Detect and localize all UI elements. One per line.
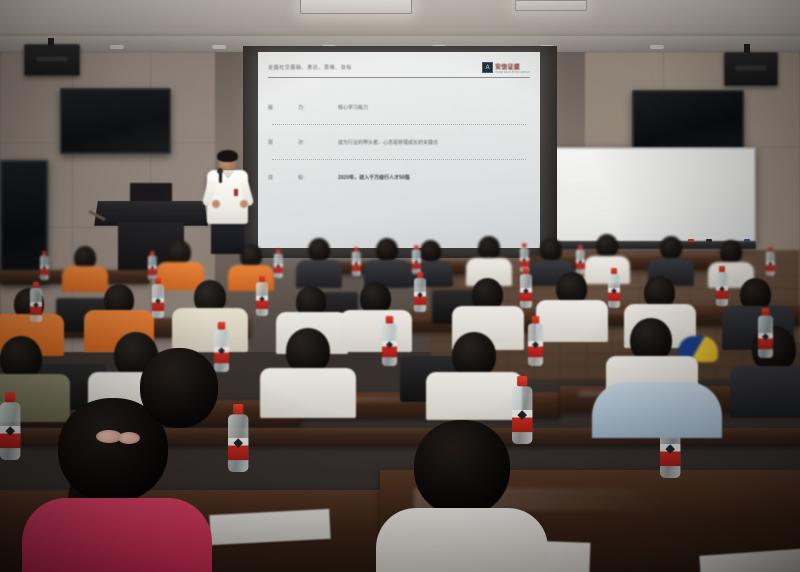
slide-row-key-1: 目	[268, 174, 298, 181]
company-logo: A 安信证盛 ANXIN EDUCATION GROUP	[482, 62, 530, 74]
audience-head	[720, 240, 742, 264]
speaker-mount	[48, 38, 54, 46]
audience-torso	[62, 266, 108, 292]
slide-header-rule	[268, 77, 530, 78]
audience-torso-foreground	[376, 508, 548, 572]
water-bottle	[412, 245, 421, 274]
audience-head	[596, 234, 618, 258]
ceiling-light-secondary	[515, 0, 587, 11]
presenter-hand-right	[240, 200, 248, 208]
audience-head	[308, 238, 330, 262]
water-bottle	[352, 247, 361, 276]
audience-head-foreground	[414, 420, 510, 516]
audience-torso	[426, 372, 522, 420]
microphone-head-icon	[217, 168, 223, 174]
wall-speaker-icon	[24, 44, 80, 76]
presentation-slide: 全面社交基础、表达、思维、目标 A 安信证盛 ANXIN EDUCATION G…	[258, 52, 540, 248]
water-bottle	[512, 376, 532, 444]
ceiling-light	[300, 0, 412, 14]
water-bottle	[576, 245, 585, 274]
marker-blue-icon	[744, 239, 750, 242]
audience-head	[660, 236, 682, 260]
right-wall-display-icon	[632, 90, 744, 152]
audience-torso	[536, 300, 608, 342]
water-bottle	[214, 322, 229, 372]
audience-torso	[340, 310, 412, 352]
audience-head	[420, 240, 441, 263]
slide-row-key-2: 力:	[298, 104, 338, 111]
water-bottle	[766, 247, 775, 276]
water-bottle	[152, 278, 164, 318]
logo-subtext: ANXIN EDUCATION GROUP	[495, 71, 530, 74]
water-bottle	[0, 392, 20, 460]
presenter-badge	[234, 189, 238, 196]
water-bottle	[716, 266, 728, 306]
slide-header: 全面社交基础、表达、思维、目标 A 安信证盛 ANXIN EDUCATION G…	[268, 58, 530, 77]
presenter-legs	[211, 222, 244, 254]
water-bottle	[608, 268, 620, 308]
water-bottle	[758, 308, 773, 358]
water-bottle	[256, 276, 268, 316]
notebook-page	[209, 509, 330, 545]
ceiling-fixture-dot	[212, 45, 226, 49]
slide-row-key-2: 标:	[298, 174, 338, 181]
audience-head	[540, 238, 562, 262]
wall-speaker-icon	[724, 52, 778, 86]
logo-mark-icon: A	[482, 62, 493, 73]
presenter-hand-left	[212, 200, 220, 208]
audience-torso-foreground	[22, 498, 212, 572]
water-bottle	[274, 249, 283, 278]
slide-row: 层 次: 成为行业的带头者，心态是管理成长的关键点	[268, 125, 530, 159]
water-bottle	[528, 316, 543, 366]
ceiling-fixture-dot	[650, 45, 664, 49]
water-bottle	[40, 251, 49, 280]
audience-head	[376, 238, 398, 262]
slide-row: 能 力: 核心学习能力	[268, 90, 530, 124]
speaker-mount	[744, 44, 750, 53]
audience-head	[140, 348, 218, 428]
audience-head	[478, 236, 500, 260]
audience-torso	[730, 366, 800, 418]
audience-torso	[172, 308, 248, 352]
ceiling-fixture-dot	[110, 45, 124, 49]
slide-row-key-2: 次:	[298, 139, 338, 146]
slide-row-key-1: 层	[268, 139, 298, 146]
logo-mark-letter: A	[486, 65, 490, 71]
slide-row-key-1: 能	[268, 104, 298, 111]
slide-row: 目 标: 2020年，进入千万级行人才50强	[268, 160, 530, 194]
slide-row-value: 成为行业的带头者，心态是管理成长的关键点	[338, 139, 530, 146]
water-bottle	[414, 272, 426, 312]
audience-torso	[296, 260, 342, 288]
hair-clip	[118, 432, 140, 444]
marker-red-icon	[688, 239, 694, 242]
slide-row-value: 核心学习能力	[338, 104, 530, 111]
marker-black-icon	[706, 239, 712, 242]
audience-torso	[260, 368, 356, 418]
slide-row-value: 2020年，进入千万级行人才50强	[338, 174, 530, 181]
water-bottle	[228, 404, 248, 472]
water-bottle	[382, 316, 397, 366]
water-bottle	[148, 251, 157, 280]
presenter-hair	[217, 150, 238, 162]
logo-text: 安信证盛	[495, 62, 530, 71]
lecture-hall-photo: 全面社交基础、表达、思维、目标 A 安信证盛 ANXIN EDUCATION G…	[0, 0, 800, 572]
audience-torso	[584, 256, 630, 284]
water-bottle	[520, 268, 532, 308]
audience-torso	[592, 382, 722, 438]
left-wall-display-icon	[60, 88, 171, 154]
projection-screen: 全面社交基础、表达、思维、目标 A 安信证盛 ANXIN EDUCATION G…	[258, 52, 540, 248]
slide-title: 全面社交基础、表达、思维、目标	[268, 64, 352, 71]
whiteboard	[552, 147, 756, 246]
water-bottle	[30, 282, 42, 322]
